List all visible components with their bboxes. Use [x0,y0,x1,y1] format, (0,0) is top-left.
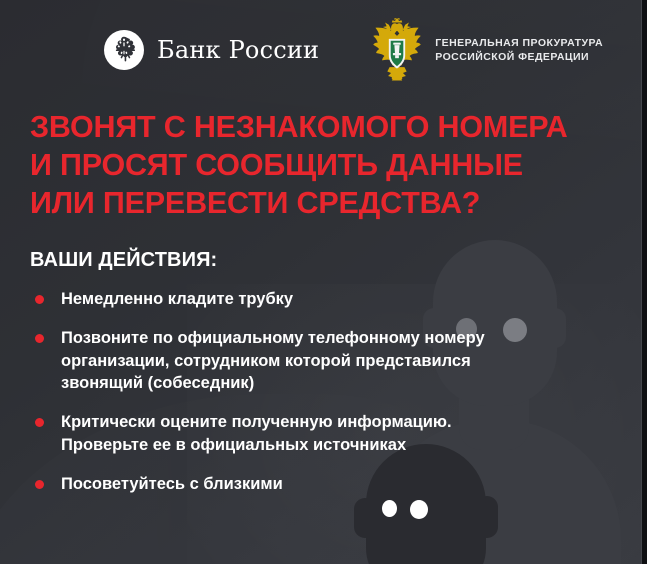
list-item-label: Немедленно кладите трубку [61,288,630,310]
bank-of-russia-eagle-icon [104,30,144,70]
bullet-dot-icon [35,295,44,304]
actions-list: Немедленно кладите трубку Позвоните по о… [30,288,630,495]
list-item: Немедленно кладите трубку [30,288,630,310]
list-item-label: Критически оцените полученную информацию… [61,411,630,456]
headline-line-3: ИЛИ ПЕРЕВЕСТИ СРЕДСТВА? [30,185,630,223]
headline-line-1: ЗВОНЯТ С НЕЗНАКОМОГО НОМЕРА [30,109,630,147]
page-title: ЗВОНЯТ С НЕЗНАКОМОГО НОМЕРА И ПРОСЯТ СОО… [30,109,630,223]
headline-line-2: И ПРОСЯТ СООБЩИТЬ ДАННЫЕ [30,147,630,185]
bullet-dot-icon [35,480,44,489]
list-item-label: Позвоните по официальному телефонному но… [61,327,630,394]
prosecutor-general-label-line1: ГЕНЕРАЛЬНАЯ ПРОКУРАТУРА [435,36,603,50]
prosecutor-general-label: ГЕНЕРАЛЬНАЯ ПРОКУРАТУРА РОССИЙСКОЙ ФЕДЕР… [435,36,603,65]
list-item-label: Посоветуйтесь с близкими [61,473,630,495]
logo-bar: Банк России [0,0,647,100]
list-item: Посоветуйтесь с близкими [30,473,630,495]
prosecutor-general-emblem-icon [371,18,423,82]
fraud-awareness-poster: Банк России [0,0,647,564]
bullet-dot-icon [35,418,44,427]
list-item: Позвоните по официальному телефонному но… [30,327,630,394]
prosecutor-general-label-line2: РОССИЙСКОЙ ФЕДЕРАЦИИ [435,50,603,64]
bank-of-russia-label: Банк России [157,36,319,64]
right-edge-strip [642,0,647,564]
prosecutor-general-logo: ГЕНЕРАЛЬНАЯ ПРОКУРАТУРА РОССИЙСКОЙ ФЕДЕР… [371,18,603,82]
bullet-dot-icon [35,334,44,343]
bank-of-russia-logo: Банк России [104,30,319,70]
actions-subheading: ВАШИ ДЕЙСТВИЯ: [30,249,217,272]
poster-content: Банк России [0,0,647,564]
list-item: Критически оцените полученную информацию… [30,411,630,456]
